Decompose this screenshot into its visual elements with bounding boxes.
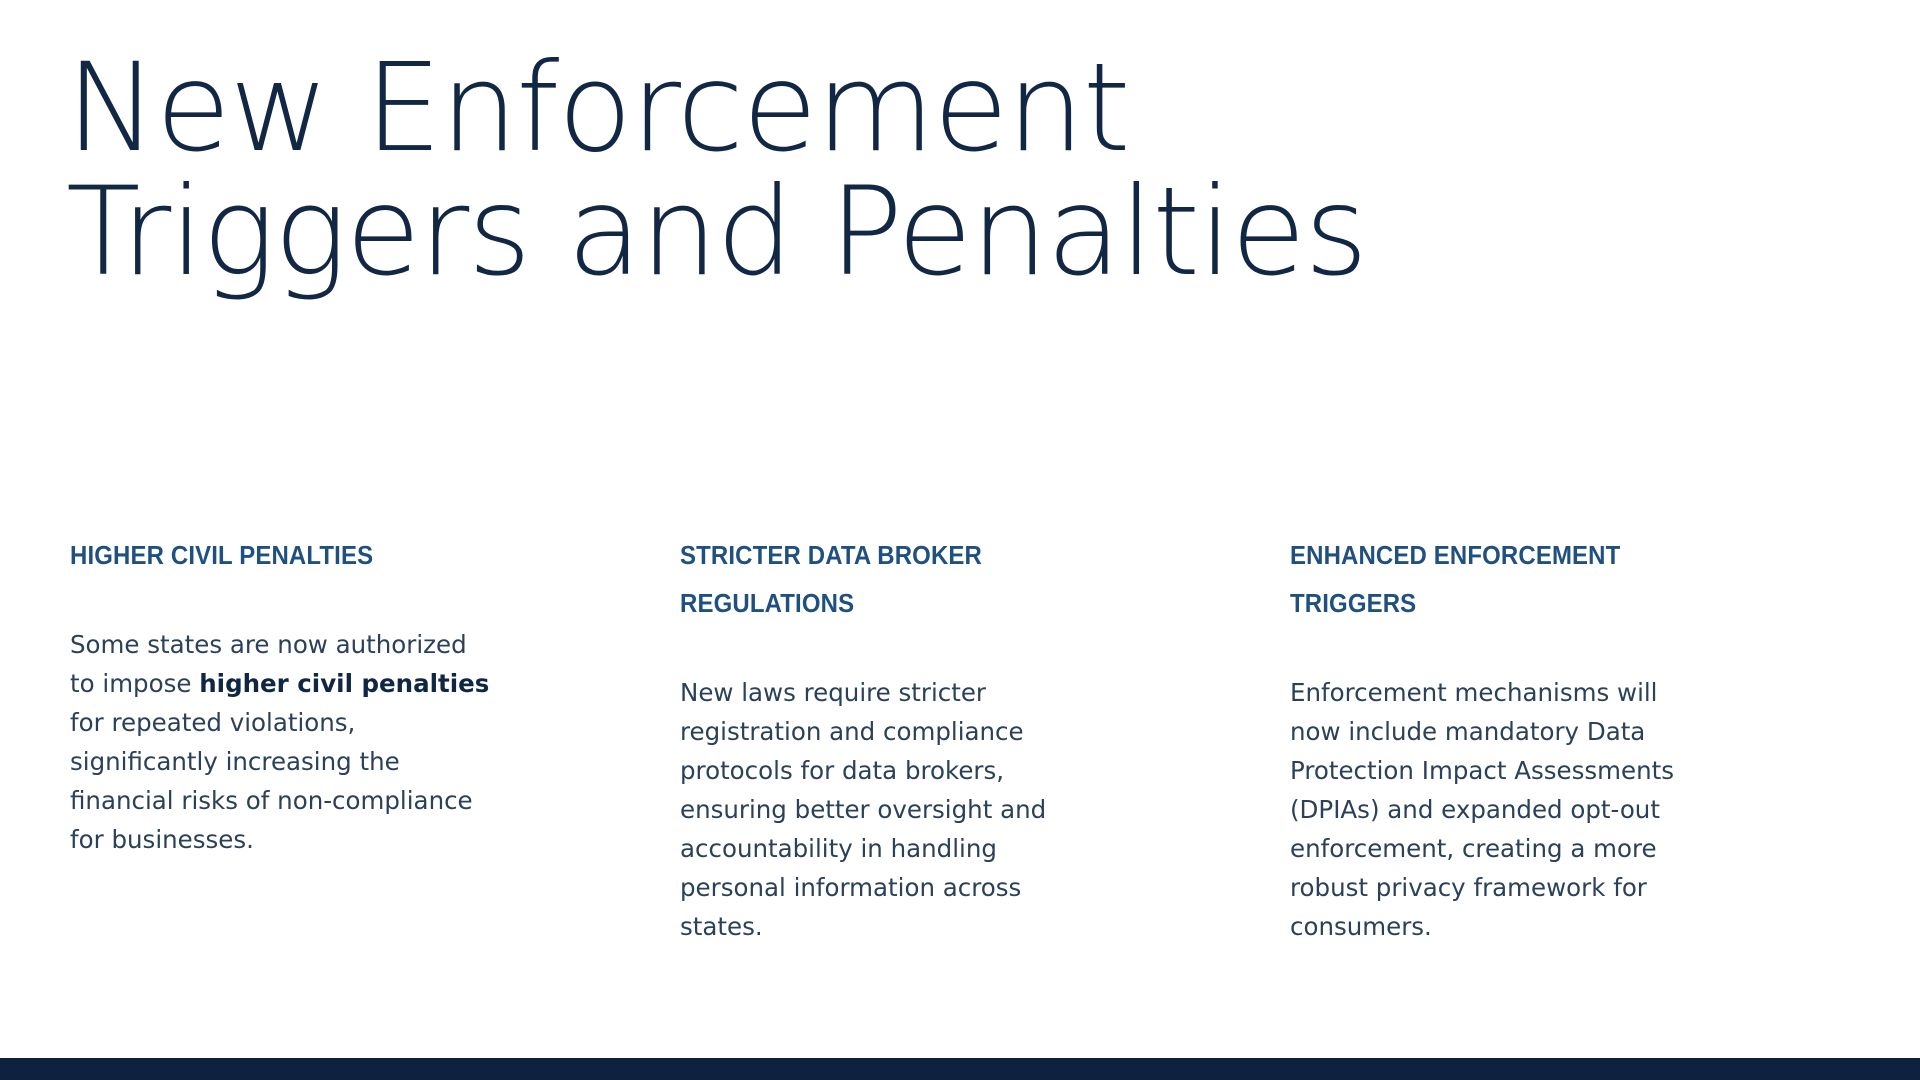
column-heading: HIGHER CIVIL PENALTIES [70, 532, 470, 580]
column-body-text-before: New laws require stricter registration a… [680, 678, 1046, 941]
footer-accent-bar [0, 1058, 1920, 1080]
column-body: Enforcement mechanisms will now include … [1290, 628, 1715, 946]
column-stricter-data-broker-regulations: STRICTER DATA BROKER REGULATIONS New law… [680, 532, 1105, 946]
column-body: Some states are now authorized to impose… [70, 580, 495, 859]
column-body: New laws require stricter registration a… [680, 628, 1105, 946]
column-higher-civil-penalties: HIGHER CIVIL PENALTIES Some states are n… [70, 532, 495, 946]
column-heading: STRICTER DATA BROKER REGULATIONS [680, 532, 1080, 628]
page-title: New Enforcement Triggers and Penalties [66, 46, 1566, 294]
column-body-text-before: Enforcement mechanisms will now include … [1290, 678, 1674, 941]
column-body-text-emphasis: higher civil penalties [199, 669, 489, 698]
page-title-line-1: New Enforcement [66, 46, 1566, 170]
content-columns: HIGHER CIVIL PENALTIES Some states are n… [70, 532, 1850, 946]
slide-canvas: New Enforcement Triggers and Penalties H… [0, 0, 1920, 1080]
column-heading: ENHANCED ENFORCEMENT TRIGGERS [1290, 532, 1690, 628]
column-enhanced-enforcement-triggers: ENHANCED ENFORCEMENT TRIGGERS Enforcemen… [1290, 532, 1715, 946]
page-title-line-2: Triggers and Penalties [66, 170, 1566, 294]
column-body-text-after: for repeated violations, significantly i… [70, 708, 473, 854]
